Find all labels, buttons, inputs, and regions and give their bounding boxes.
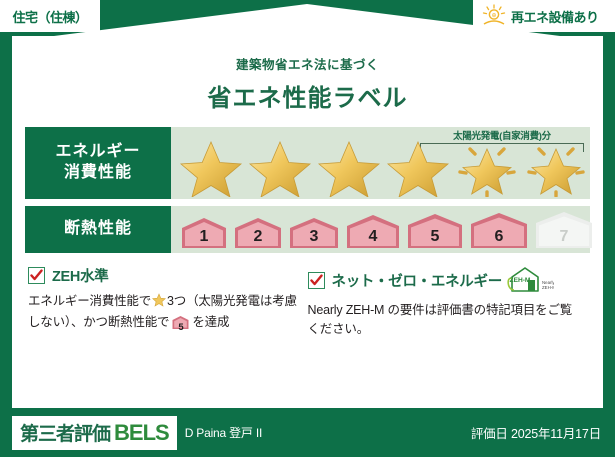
label-body: 建築物省エネ法に基づく 省エネ性能ラベル エネルギー 消費性能 太陽光発電(自家… bbox=[12, 36, 603, 408]
notes-section: ZEH水準 エネルギー消費性能で3つ（太陽光発電は考慮しない）、かつ断熱性能で5… bbox=[12, 265, 603, 340]
inline-house-icon: 5 bbox=[171, 315, 190, 336]
insulation-level-number: 4 bbox=[344, 228, 402, 246]
bels-certification-badge: 第三者評価 BELS bbox=[12, 416, 177, 450]
page-title: 省エネ性能ラベル bbox=[12, 78, 603, 113]
building-type-tag: 住宅（住棟） bbox=[0, 0, 100, 32]
inline-house-number: 5 bbox=[171, 321, 190, 336]
note-body-star-count: 3つ bbox=[167, 294, 186, 308]
insulation-house-7-inactive: 7 bbox=[533, 210, 595, 250]
star-icon bbox=[246, 135, 315, 197]
building-type-label: 住宅（住棟） bbox=[12, 7, 87, 26]
insulation-house-4: 4 bbox=[344, 213, 402, 250]
insulation-level-number: 6 bbox=[468, 228, 530, 246]
renewable-equipment-badge: ⊕ 再エネ設備あり bbox=[473, 0, 615, 32]
note-body: Nearly ZEH-M の要件は評価書の特記項目をご覧ください。 bbox=[308, 301, 578, 340]
insulation-house-2: 2 bbox=[232, 215, 284, 250]
insulation-house-3: 3 bbox=[287, 215, 341, 250]
star-icon-solar bbox=[453, 135, 522, 197]
energy-performance-value: 太陽光発電(自家消費)分 bbox=[171, 127, 590, 199]
star-icon bbox=[315, 135, 384, 197]
insulation-house-1: 1 bbox=[179, 215, 229, 250]
note-body-part1: エネルギー消費性能で bbox=[28, 294, 151, 308]
insulation-label-text: 断熱性能 bbox=[64, 219, 132, 240]
note-net-zero-energy: ネット・ゼロ・エネルギー ZEH-M Nearly ZEH-M Nearly Z… bbox=[308, 265, 588, 340]
renewable-equipment-label: 再エネ設備あり bbox=[511, 7, 599, 26]
insulation-level-number: 7 bbox=[533, 228, 595, 246]
checkbox-checked-icon bbox=[28, 267, 45, 284]
insulation-performance-row: 断熱性能 1 bbox=[25, 206, 590, 253]
insulation-level-number: 1 bbox=[179, 228, 229, 246]
insulation-level-group: 1 2 bbox=[179, 210, 598, 250]
building-name: D Paina 登戸 II bbox=[185, 424, 262, 441]
energy-label-line1: エネルギー bbox=[55, 142, 140, 163]
note-title: ネット・ゼロ・エネルギー bbox=[332, 270, 502, 291]
insulation-level-number: 3 bbox=[287, 228, 341, 246]
checkbox-checked-icon bbox=[308, 272, 325, 289]
note-body-part3: を達成 bbox=[192, 315, 229, 329]
energy-saving-performance-label: 住宅（住棟） ⊕ 再エネ設備あり bbox=[0, 0, 615, 457]
zeh-m-logo-sub2: ZEH-M bbox=[542, 285, 554, 290]
note-header: ZEH水準 bbox=[28, 265, 298, 286]
inline-star-icon bbox=[152, 293, 166, 313]
note-header: ネット・ゼロ・エネルギー ZEH-M Nearly ZEH-M bbox=[308, 265, 578, 295]
zeh-m-logo-text: ZEH-M bbox=[509, 277, 530, 284]
zeh-m-house-logo: ZEH-M Nearly ZEH-M bbox=[506, 265, 554, 295]
svg-text:⊕: ⊕ bbox=[491, 13, 496, 19]
note-zeh-standard: ZEH水準 エネルギー消費性能で3つ（太陽光発電は考慮しない）、かつ断熱性能で5… bbox=[28, 265, 308, 340]
star-rating-group bbox=[177, 135, 591, 197]
energy-performance-label: エネルギー 消費性能 bbox=[25, 127, 171, 199]
insulation-performance-label: 断熱性能 bbox=[25, 206, 171, 253]
energy-label-line2: 消費性能 bbox=[64, 163, 132, 184]
footer-bar: 第三者評価 BELS D Paina 登戸 II 評価日 2025年11月17日 bbox=[0, 408, 615, 457]
header-bar: 住宅（住棟） ⊕ 再エネ設備あり bbox=[0, 0, 615, 36]
star-icon-solar bbox=[522, 135, 591, 197]
insulation-performance-value: 1 2 bbox=[171, 206, 590, 253]
insulation-house-6: 6 bbox=[468, 211, 530, 250]
bels-jp-label: 第三者評価 bbox=[20, 419, 110, 446]
evaluation-date: 評価日 2025年11月17日 bbox=[471, 423, 601, 442]
note-title: ZEH水準 bbox=[52, 265, 109, 286]
insulation-level-number: 5 bbox=[405, 228, 465, 246]
star-icon bbox=[177, 135, 246, 197]
star-icon bbox=[384, 135, 453, 197]
note-body: エネルギー消費性能で3つ（太陽光発電は考慮しない）、かつ断熱性能で5を達成 bbox=[28, 292, 298, 337]
insulation-level-number: 2 bbox=[232, 228, 284, 246]
insulation-house-5: 5 bbox=[405, 212, 465, 250]
solar-sun-icon: ⊕ bbox=[481, 4, 507, 28]
bels-en-label: BELS bbox=[114, 420, 169, 446]
energy-performance-row: エネルギー 消費性能 太陽光発電(自家消費)分 bbox=[25, 127, 590, 199]
title-block: 建築物省エネ法に基づく 省エネ性能ラベル bbox=[12, 36, 603, 113]
ratings-section: エネルギー 消費性能 太陽光発電(自家消費)分 bbox=[12, 127, 603, 253]
title-subtitle: 建築物省エネ法に基づく bbox=[12, 54, 603, 73]
